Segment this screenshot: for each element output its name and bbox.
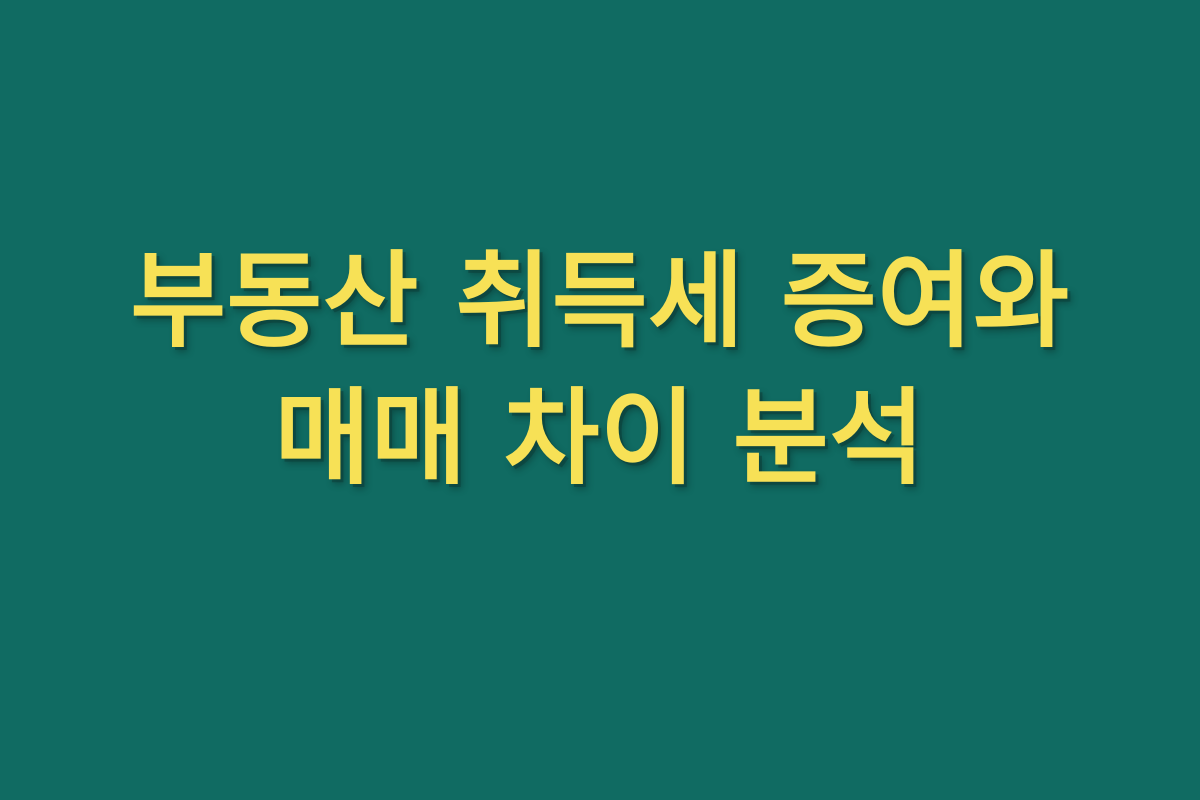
title-banner: 부동산 취득세 증여와 매매 차이 분석 — [0, 0, 1200, 800]
title-line-2: 매매 차이 분석 — [70, 370, 1130, 507]
title-line-1: 부동산 취득세 증여와 — [70, 233, 1130, 370]
title-block: 부동산 취득세 증여와 매매 차이 분석 — [70, 233, 1130, 508]
